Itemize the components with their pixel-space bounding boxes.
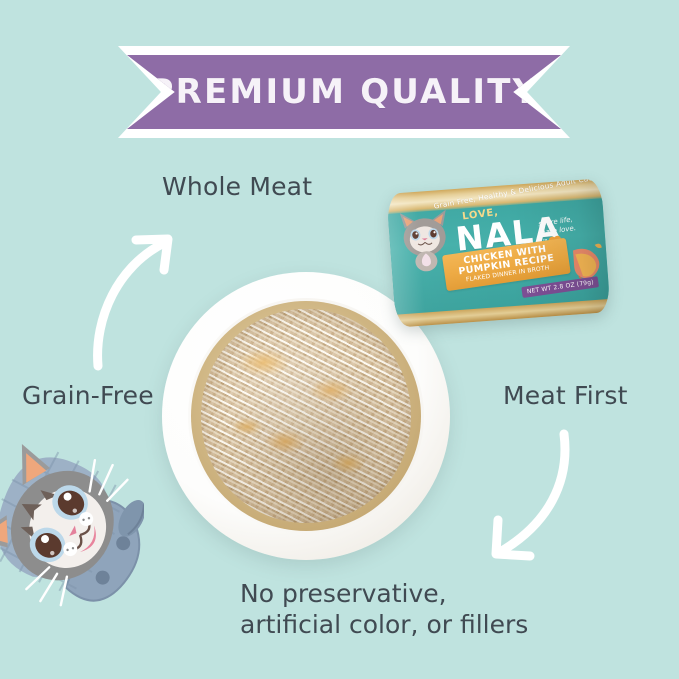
callout-no-preservative: No preservative, artificial color, or fi…: [240, 578, 640, 640]
callout-meat-first: Meat First: [503, 381, 628, 410]
cartoon-cat-illustration: [0, 436, 144, 618]
product-can: Grain Free, Healthy & Delicious Adult Ca…: [386, 178, 610, 327]
promo-graphic: PREMIUM QUALITY Whole Meat Grain-Free Me…: [0, 0, 679, 679]
callout-whole-meat: Whole Meat: [162, 172, 312, 201]
banner-title: PREMIUM QUALITY: [149, 72, 540, 112]
can-sheen: [386, 178, 610, 327]
can-body: Grain Free, Healthy & Delicious Adult Ca…: [386, 178, 610, 327]
shredded-chicken: [201, 309, 411, 522]
callout-no-preservative-line1: No preservative,: [240, 578, 640, 609]
premium-quality-banner: PREMIUM QUALITY: [118, 46, 570, 138]
callout-grain-free: Grain-Free: [22, 381, 154, 410]
arrow-down-left-icon: [452, 418, 587, 573]
banner-fill: PREMIUM QUALITY: [127, 55, 561, 129]
callout-no-preservative-line2: artificial color, or fillers: [240, 609, 640, 640]
meat-shading: [201, 309, 411, 522]
